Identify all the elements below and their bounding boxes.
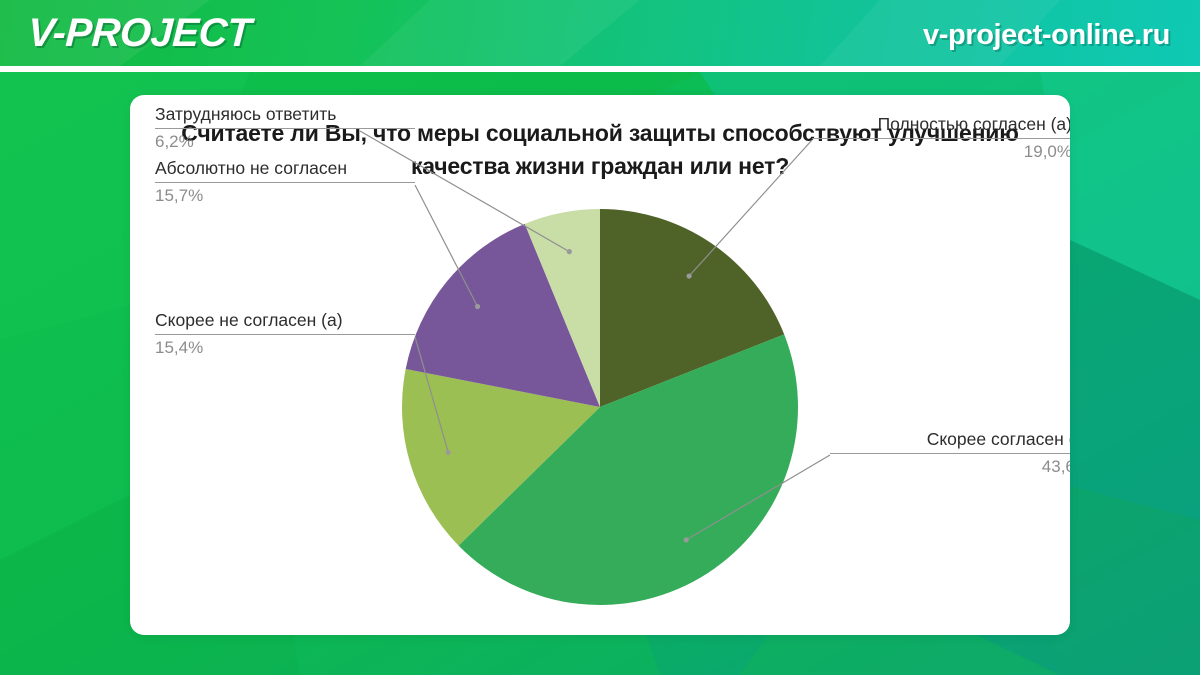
leader-anchor-dot — [567, 249, 572, 254]
callout-underline — [830, 453, 1070, 454]
slide-canvas: V-PROJECT v-project-online.ru Считаете л… — [0, 0, 1200, 675]
site-url-label[interactable]: v-project-online.ru — [923, 19, 1170, 51]
chart-card: Считаете ли Вы, что меры социальной защи… — [130, 95, 1070, 635]
leader-anchor-dot — [446, 450, 451, 455]
leader-line — [689, 140, 812, 276]
callout-polnostyu-soglasen: Полностью согласен (а) 19,0% — [812, 113, 1070, 163]
leader-anchor-dot — [684, 537, 689, 542]
callout-label: Затрудняюсь ответить — [155, 103, 415, 125]
site-header-band: V-PROJECT v-project-online.ru — [0, 0, 1200, 66]
header-divider-rule — [0, 66, 1200, 72]
callout-underline — [155, 182, 415, 183]
callout-underline — [155, 334, 415, 335]
callout-label: Полностью согласен (а) — [812, 113, 1070, 135]
leader-anchor-dot — [475, 304, 480, 309]
callout-label: Скорее не согласен (а) — [155, 309, 415, 331]
callout-value: 15,4% — [155, 337, 415, 359]
callout-label: Абсолютно не согласен — [155, 157, 415, 179]
pie-slice-group — [402, 209, 798, 605]
callout-underline — [155, 128, 415, 129]
callout-value: 15,7% — [155, 185, 415, 207]
callout-label: Скорее согласен (а) — [830, 428, 1070, 450]
callout-value: 43,6% — [830, 456, 1070, 478]
callout-value: 6,2% — [155, 131, 415, 153]
callout-zatrudnyayus-otvetit: Затрудняюсь ответить 6,2% — [155, 103, 415, 153]
callout-skoree-ne-soglasen: Скорее не согласен (а) 15,4% — [155, 309, 415, 359]
callout-value: 19,0% — [812, 141, 1070, 163]
leader-anchor-dot — [687, 273, 692, 278]
brand-logo[interactable]: V-PROJECT — [27, 11, 252, 55]
callout-underline — [812, 138, 1070, 139]
callout-skoree-soglasen: Скорее согласен (а) 43,6% — [830, 428, 1070, 478]
callout-absolyutno-ne-soglasen: Абсолютно не согласен 15,7% — [155, 157, 415, 207]
